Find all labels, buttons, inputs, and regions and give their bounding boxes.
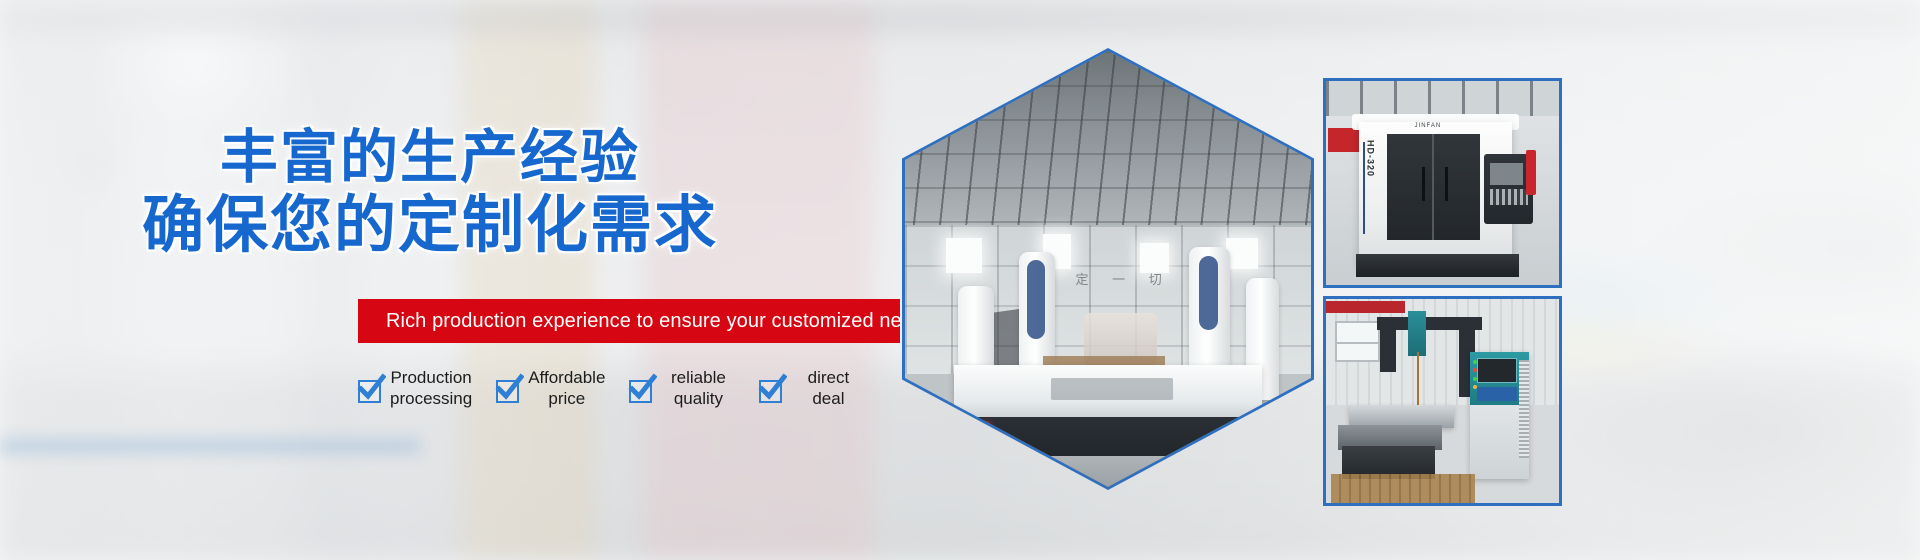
window-mullion — [1335, 342, 1379, 344]
cnc-keypad — [1490, 189, 1527, 205]
subheadline-text: Rich production experience to ensure you… — [358, 310, 934, 333]
factory-window — [1226, 238, 1258, 269]
wooden-pallet — [1331, 474, 1475, 503]
indicator-lamp-green-icon — [1473, 377, 1477, 381]
cnc-keypad — [1477, 387, 1517, 401]
headline-line-1: 丰富的生产经验 — [0, 126, 860, 190]
machine-brand-logo: JINFAN — [1415, 123, 1442, 129]
machine-post — [1380, 323, 1396, 372]
feature-label-line-2: quality — [674, 389, 723, 408]
hexagon-photo-cnc-line: 定 一 切 — [905, 51, 1311, 487]
cnc-screen — [1490, 163, 1523, 185]
side-photo-edm-machine — [1323, 296, 1562, 506]
factory-floor — [905, 456, 1311, 487]
factory-window — [946, 238, 983, 273]
hero-hexagon-image: 定 一 切 — [902, 48, 1314, 490]
indicator-lamp-green-icon — [1473, 360, 1477, 364]
indicator-lamp-green-icon — [970, 422, 976, 428]
door-handle — [1445, 167, 1448, 202]
feature-label-line-1: reliable — [671, 368, 726, 387]
door-handle — [1422, 167, 1425, 202]
feature-item-affordable-price[interactable]: Affordable price — [496, 368, 605, 410]
door-split-line — [1432, 134, 1434, 240]
feature-label-line-1: Production — [390, 368, 471, 387]
factory-roof — [1326, 81, 1559, 118]
cabinet-vent — [1519, 360, 1528, 458]
red-guard-rail — [1526, 150, 1535, 195]
wall-signage-text: 定 一 切 — [1076, 269, 1172, 288]
red-wall-banner — [1326, 301, 1405, 313]
machine-plinth — [1356, 254, 1519, 276]
machine-bed-window — [1051, 378, 1173, 400]
checkbox-icon[interactable] — [358, 380, 381, 403]
factory-roof — [905, 51, 1311, 252]
headline-line-2: 确保您的定制化需求 — [0, 192, 860, 260]
machine-control-panel — [1199, 256, 1217, 330]
feature-label-line-1: direct — [808, 368, 850, 387]
machine-model-label: HD-320 — [1366, 140, 1376, 177]
checkbox-icon[interactable] — [629, 380, 652, 403]
feature-label-line-2: price — [548, 389, 585, 408]
feature-item-label: direct deal — [791, 368, 865, 410]
checkbox-icon[interactable] — [496, 380, 519, 403]
feature-label-line-1: Affordable — [528, 368, 605, 387]
side-photo-machining-center: JINFAN HD-320 — [1323, 78, 1562, 288]
work-tank — [1349, 405, 1454, 427]
machine-cutting-head — [1408, 311, 1427, 356]
feature-item-production-processing[interactable]: Production processing — [358, 368, 472, 410]
machine-control-panel — [1027, 260, 1045, 338]
promo-banner: 丰富的生产经验 确保您的定制化需求 Rich production experi… — [0, 0, 1920, 560]
feature-item-reliable-quality[interactable]: reliable quality — [629, 368, 735, 410]
copy-column: 丰富的生产经验 确保您的定制化需求 Rich production experi… — [0, 0, 900, 560]
subheadline-banner: Rich production experience to ensure you… — [358, 299, 900, 343]
feature-item-direct-deal[interactable]: direct deal — [759, 368, 865, 410]
side-image-stack: JINFAN HD-320 — [1323, 78, 1562, 506]
feature-label-line-2: deal — [812, 389, 844, 408]
checkbox-icon[interactable] — [759, 380, 782, 403]
feature-item-label: reliable quality — [661, 368, 735, 410]
feature-item-label: Affordable price — [528, 368, 605, 410]
page-title: 丰富的生产经验 确保您的定制化需求 — [0, 126, 860, 260]
feature-list: Production processing Affordable price — [358, 368, 898, 430]
cnc-screen — [1477, 358, 1517, 382]
indicator-lamp-amber-icon — [1473, 385, 1477, 389]
feature-item-label: Production processing — [390, 368, 472, 410]
feature-label-line-2: processing — [390, 389, 472, 408]
